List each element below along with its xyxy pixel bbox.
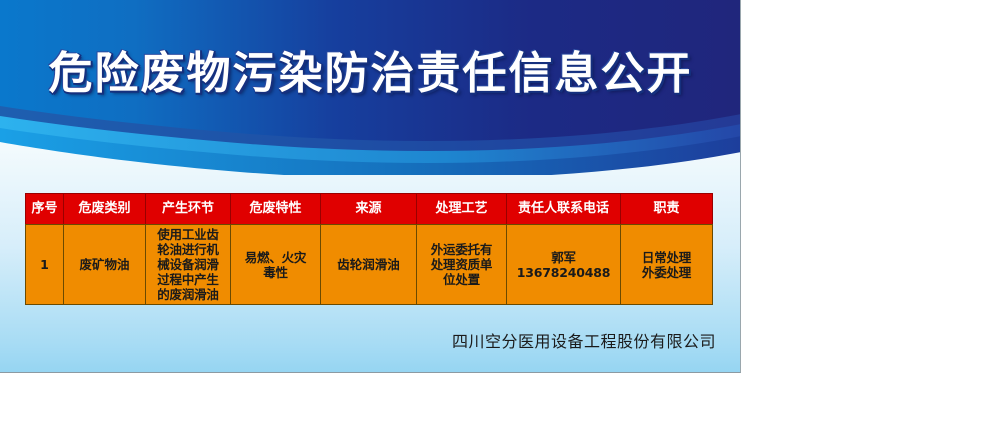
cell-contact: 郭军 13678240488 [507,225,621,305]
cell-treatment-process: 外运委托有 处理资质单 位处置 [417,225,507,305]
column-header-stage: 产生环节 [146,194,231,225]
contact-phone: 13678240488 [510,265,617,280]
hazardous-waste-table: 序号 危废类别 产生环节 危废特性 来源 处理工艺 责任人联系电话 职责 1 废… [25,193,713,305]
cell-line: 轮油进行机 [149,242,227,257]
column-header-contact: 责任人联系电话 [507,194,621,225]
cell-hazard-property: 易燃、火灾 毒性 [231,225,321,305]
contact-name: 郭军 [510,250,617,265]
column-header-duty: 职责 [621,194,713,225]
cell-line: 过程中产生 [149,272,227,287]
column-header-property: 危废特性 [231,194,321,225]
cell-source: 齿轮润滑油 [321,225,417,305]
column-header-source: 来源 [321,194,417,225]
poster-banner [0,0,741,175]
column-header-category: 危废类别 [64,194,146,225]
column-header-process: 处理工艺 [417,194,507,225]
table-header-row: 序号 危废类别 产生环节 危废特性 来源 处理工艺 责任人联系电话 职责 [26,194,713,225]
cell-line: 易燃、火灾 [234,250,317,265]
column-header-index: 序号 [26,194,64,225]
cell-generation-stage: 使用工业齿 轮油进行机 械设备润滑 过程中产生 的废润滑油 [146,225,231,305]
table-row: 1 废矿物油 使用工业齿 轮油进行机 械设备润滑 过程中产生 的废润滑油 易燃、… [26,225,713,305]
cell-duty: 日常处理 外委处理 [621,225,713,305]
cell-line: 使用工业齿 [149,227,227,242]
information-disclosure-poster: 危险废物污染防治责任信息公开 序号 危废类别 产生环节 危废特性 来源 处理工艺… [0,0,741,373]
cell-line: 位处置 [420,272,503,287]
cell-line: 日常处理 [624,250,709,265]
cell-line: 毒性 [234,265,317,280]
cell-line: 处理资质单 [420,257,503,272]
company-name: 四川空分医用设备工程股份有限公司 [0,328,716,352]
cell-line: 外运委托有 [420,242,503,257]
cell-category: 废矿物油 [64,225,146,305]
cell-line: 外委处理 [624,265,709,280]
cell-line: 的废润滑油 [149,287,227,302]
cell-line: 械设备润滑 [149,257,227,272]
cell-index: 1 [26,225,64,305]
